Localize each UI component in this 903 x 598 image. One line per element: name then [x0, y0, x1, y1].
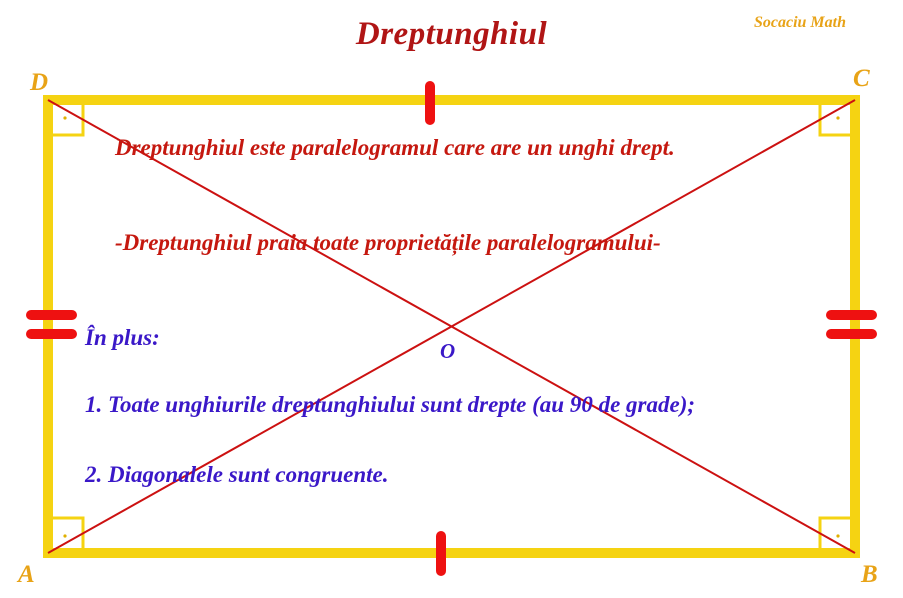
property-2-text: 2. Diagonalele sunt congruente.	[85, 462, 389, 487]
vertex-label-b: B	[861, 562, 878, 587]
vertex-label-d: D	[30, 70, 48, 95]
vertex-label-o: O	[440, 341, 455, 362]
properties-note-text: -Dreptunghiul praia toate proprietățile …	[115, 230, 661, 255]
definition-text: Dreptunghiul este paralelogramul care ar…	[115, 135, 675, 160]
slide-canvas: Dreptunghiul Socaciu Math	[0, 0, 903, 598]
in-plus-label: În plus:	[85, 325, 160, 350]
vertex-label-c: C	[853, 66, 870, 91]
rectangle-figure	[0, 0, 903, 598]
property-1-text: 1. Toate unghiurile dreptunghiului sunt …	[85, 392, 695, 417]
vertex-label-a: A	[18, 562, 35, 587]
